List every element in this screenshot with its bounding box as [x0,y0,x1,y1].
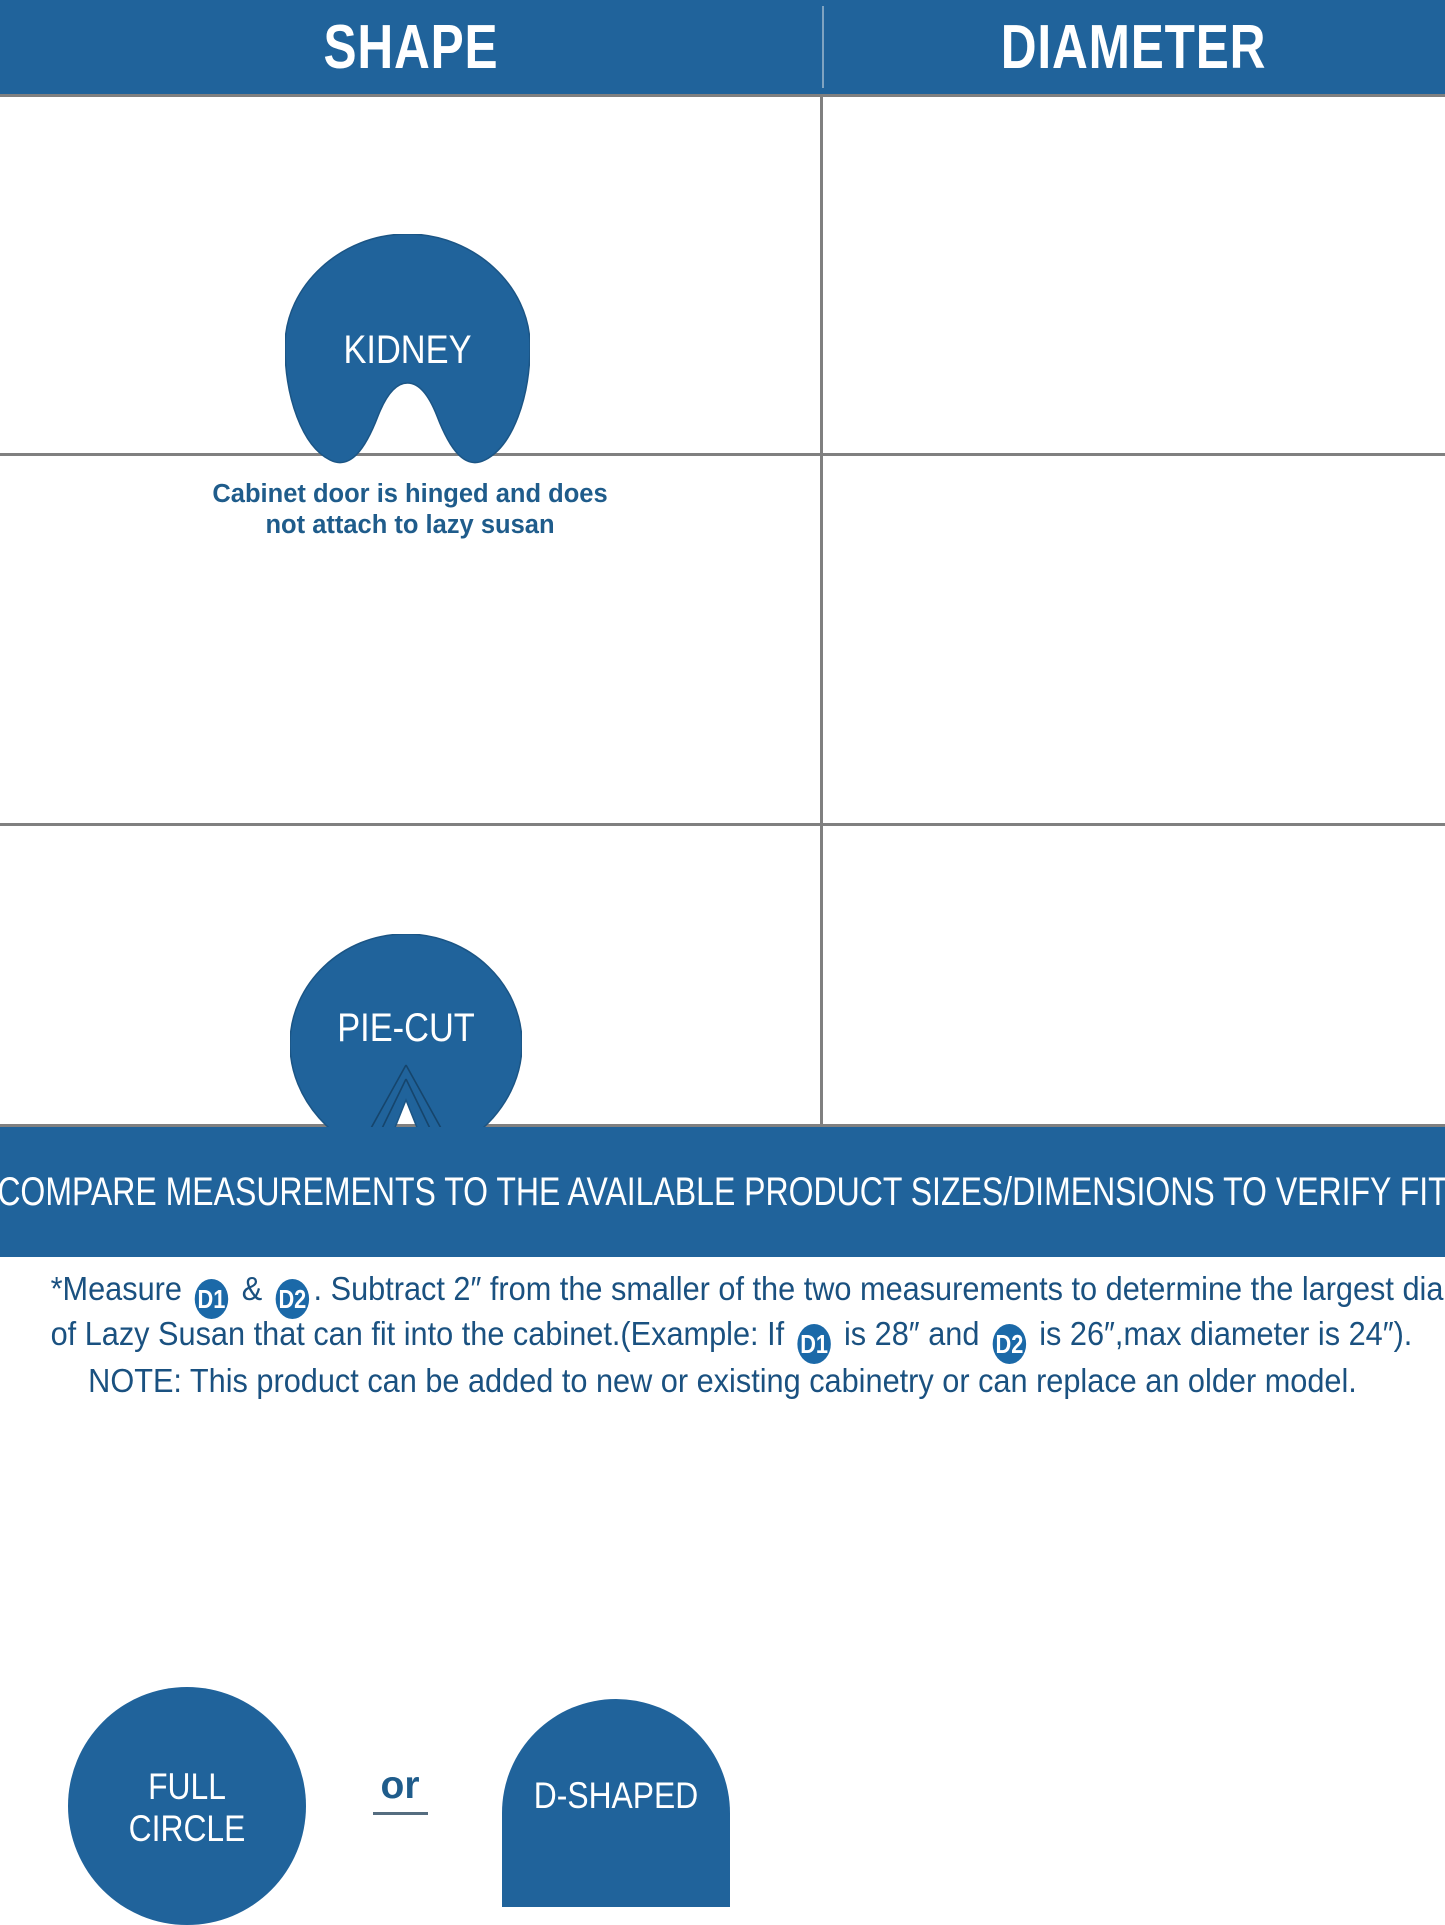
cell-dshaped-diameter: Not Applicable [823,826,1445,1124]
full-circle-label: FULL CIRCLE [85,1766,290,1850]
d2-badge: D2 [275,1279,308,1319]
full-circle-label-line2: CIRCLE [129,1808,246,1849]
header-divider [822,6,824,88]
d1-badge: D1 [797,1324,830,1364]
kidney-shape-graphic: KIDNEY [285,234,530,464]
full-circle-label-line1: FULL [148,1766,226,1807]
footer-line-1: *Measure D1 & D2. Subtract 2″ from the s… [51,1270,1395,1319]
footer-example-text-a: of Lazy Susan that can fit into the cabi… [51,1315,793,1352]
d2-badge: D2 [993,1324,1026,1364]
footer-notes: *Measure D1 & D2. Subtract 2″ from the s… [0,1262,1445,1417]
footer-line-3: NOTE: This product can be added to new o… [51,1362,1395,1400]
full-circle-shape-graphic: FULL CIRCLE [68,1687,306,1925]
bottom-banner-text: COMPARE MEASUREMENTS TO THE AVAILABLE PR… [145,1127,1301,1257]
footer-line-2: of Lazy Susan that can fit into the cabi… [51,1315,1395,1364]
footer-measure-text-c: . Subtract 2″ from the smaller of the tw… [314,1270,1445,1307]
d1-badge: D1 [195,1279,228,1319]
footer-measure-text-a: *Measure [51,1270,191,1307]
or-separator: or [345,1764,455,1815]
header-title-diameter: DIAMETER [884,4,1382,92]
cell-piecut-diameter: Not Applicable [823,456,1445,823]
cell-kidney-shape: KIDNEY Cabinet door is hinged and does n… [0,97,820,453]
footer-example-text-b: is 28″ and [835,1315,987,1352]
d-shaped-label: D-SHAPED [518,1775,714,1817]
header-title-shape: SHAPE [82,4,740,92]
infographic-page: SHAPE DIAMETER KIDNEY Cabinet door is hi… [0,0,1445,1417]
or-label: or [373,1764,428,1815]
d-shaped-shape-graphic: D-SHAPED [502,1699,730,1907]
cell-piecut-shape: PIE-CUT Cabinet door is inset and must a… [0,456,820,823]
cell-fullcircle-dshaped: FULL CIRCLE or D-SHAPED [0,826,820,1124]
footer-example-text-c: is 26″,max diameter is 24″). [1031,1315,1413,1352]
footer-measure-text-b: & [233,1270,271,1307]
kidney-label: KIDNEY [302,328,513,373]
cell-kidney-diameter: D1 D2 DOOR [823,97,1445,453]
